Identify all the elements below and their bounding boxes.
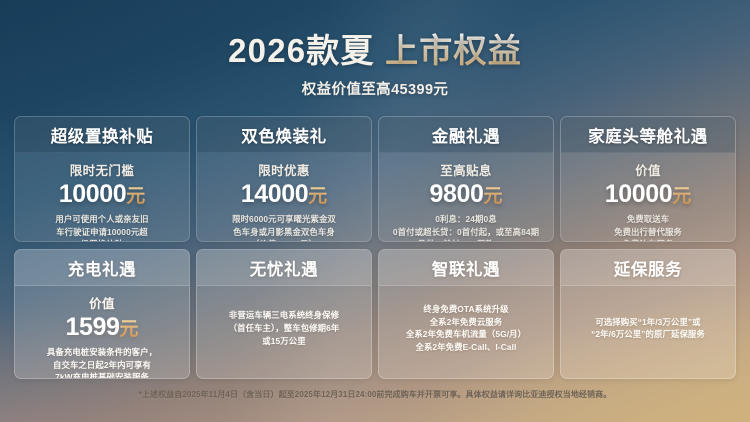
benefit-card-description: 非营运车辆三电系统终身保修（首任车主），整车包修期6年或15万公里 [229, 309, 340, 347]
benefit-card-description-line: 可选择购买“1年/3万公里”或 [591, 316, 705, 329]
benefit-card-description-line: 或15万公里 [229, 335, 340, 348]
benefit-card-amount-value: 10000 [605, 180, 673, 208]
benefit-card-description-line: （价值20000元） [232, 238, 336, 242]
benefit-card-title: 智联礼遇 [383, 256, 549, 280]
benefit-card-amount: 1599元 [65, 313, 138, 343]
benefit-card-title: 充电礼遇 [19, 256, 185, 280]
benefit-card-description-line: （首任车主），整车包修期6年 [229, 322, 340, 335]
benefit-card-description-line: 非营运车辆三电系统终身保修 [229, 309, 340, 322]
benefit-card-title: 延保服务 [565, 256, 731, 280]
benefit-card[interactable]: 双色焕装礼限时优惠14000元限时6000元可享曜光紫金双色车身或月影黑金双色车… [196, 116, 372, 242]
benefit-card-description-line: 0利息：24期0息 [393, 213, 539, 226]
benefit-card-amount-value: 14000 [241, 180, 309, 208]
benefit-card-amount-value: 1599 [65, 313, 119, 341]
benefit-card-description: 0利息：24期0息0首付或超长贷：0首付起，或至高84期0月供：首付50%尾款5… [393, 213, 539, 243]
benefit-card-description: 终身免费OTA系统升级全系2年免费云服务全系2年免费车机流量（5G/月）全系2年… [406, 303, 526, 354]
benefit-card-title: 金融礼遇 [383, 123, 549, 147]
promo-page: 2026款夏 上市权益 权益价值至高45399元 超级置换补贴限时无门槛1000… [0, 0, 750, 422]
benefit-card-header: 充电礼遇 [15, 250, 189, 286]
benefit-card-description: 限时6000元可享曜光紫金双色车身或月影黑金双色车身（价值20000元） [232, 213, 336, 243]
benefit-card-amount-unit: 元 [126, 186, 145, 207]
benefit-card-header: 双色焕装礼 [197, 117, 371, 153]
benefit-card[interactable]: 无忧礼遇非营运车辆三电系统终身保修（首任车主），整车包修期6年或15万公里 [196, 249, 372, 379]
benefit-card-description-line: 用户可使用个人或亲友旧 [55, 213, 148, 226]
benefit-card-description-line: 限时6000元可享曜光紫金双 [232, 213, 336, 226]
benefit-card-title: 家庭头等舱礼遇 [565, 123, 731, 147]
benefit-card-amount-unit: 元 [672, 186, 691, 207]
benefit-card-header: 智联礼遇 [379, 250, 553, 286]
benefit-card-description-line: 0月供：首付50%尾款50%， [393, 238, 539, 242]
benefit-card-title: 无忧礼遇 [201, 256, 367, 280]
benefit-card-description-line: “2年/6万公里”的原厂延保服务 [591, 328, 705, 341]
benefit-card-amount-value: 10000 [59, 180, 127, 208]
benefit-card-amount: 9800元 [429, 180, 502, 210]
benefit-card[interactable]: 延保服务可选择购买“1年/3万公里”或“2年/6万公里”的原厂延保服务 [560, 249, 736, 379]
benefit-card-description-line: 车行驶证申请10000元超 [55, 226, 148, 239]
page-header: 2026款夏 上市权益 权益价值至高45399元 [0, 0, 750, 99]
page-subtitle: 权益价值至高45399元 [0, 78, 750, 99]
benefit-card-description-line: 免费泊车服务 [614, 238, 682, 242]
benefit-card-description: 具备充电桩安装条件的客户，自交车之日起2年内可享有7kW充电桩基础安装服务（全系… [47, 346, 157, 380]
benefit-card-description-line: 7kW充电桩基础安装服务 [47, 371, 157, 379]
benefit-card[interactable]: 充电礼遇价值1599元具备充电桩安装条件的客户，自交车之日起2年内可享有7kW充… [14, 249, 190, 379]
benefit-card-body: 可选择购买“1年/3万公里”或“2年/6万公里”的原厂延保服务 [561, 286, 735, 378]
benefit-card-amount: 10000元 [605, 180, 692, 210]
benefit-card-header: 无忧礼遇 [197, 250, 371, 286]
benefit-card-title: 超级置换补贴 [19, 123, 185, 147]
benefit-card[interactable]: 超级置换补贴限时无门槛10000元用户可使用个人或亲友旧车行驶证申请10000元… [14, 116, 190, 242]
benefit-card-body: 限时优惠14000元限时6000元可享曜光紫金双色车身或月影黑金双色车身（价值2… [197, 153, 371, 242]
benefit-card-amount-unit: 元 [308, 186, 327, 207]
benefit-card-label: 限时优惠 [258, 160, 310, 179]
benefit-card-amount: 14000元 [241, 180, 328, 210]
page-title: 2026款夏 上市权益 [0, 33, 750, 69]
benefit-card-label: 限时无门槛 [70, 160, 135, 179]
benefit-card[interactable]: 金融礼遇至高贴息9800元0利息：24期0息0首付或超长贷：0首付起，或至高84… [378, 116, 554, 242]
benefit-card-amount-value: 9800 [429, 180, 483, 208]
benefit-card-description-line: 免费出行替代服务 [614, 226, 682, 239]
benefit-card-header: 延保服务 [561, 250, 735, 286]
benefit-card-amount-unit: 元 [120, 319, 139, 340]
page-title-highlight: 上市权益 [385, 32, 522, 69]
benefit-card-label: 价值 [635, 160, 661, 179]
benefit-card-description-line: 色车身或月影黑金双色车身 [232, 226, 336, 239]
benefit-card-description-line: 具备充电桩安装条件的客户， [47, 346, 157, 359]
benefit-card-description-line: 全系2年免费车机流量（5G/月） [406, 328, 526, 341]
page-title-model: 2026款夏 [228, 32, 375, 69]
benefit-card-description-line: 0首付或超长贷：0首付起，或至高84期 [393, 226, 539, 239]
benefit-card-title: 双色焕装礼 [201, 123, 367, 147]
benefit-card-grid: 超级置换补贴限时无门槛10000元用户可使用个人或亲友旧车行驶证申请10000元… [14, 116, 736, 379]
benefit-card-body: 限时无门槛10000元用户可使用个人或亲友旧车行驶证申请10000元超级置换补贴 [15, 153, 189, 242]
benefit-card-description: 免费取送车免费出行替代服务免费泊车服务无忧道路救援服务 [614, 213, 682, 243]
benefit-card-header: 家庭头等舱礼遇 [561, 117, 735, 153]
benefit-card-body: 非营运车辆三电系统终身保修（首任车主），整车包修期6年或15万公里 [197, 286, 371, 378]
benefit-card-label: 价值 [89, 293, 115, 312]
benefit-card-label: 至高贴息 [440, 160, 492, 179]
benefit-card-description-line: 免费取送车 [614, 213, 682, 226]
benefit-card-description: 用户可使用个人或亲友旧车行驶证申请10000元超级置换补贴 [55, 213, 148, 243]
benefit-card-description: 可选择购买“1年/3万公里”或“2年/6万公里”的原厂延保服务 [591, 316, 705, 342]
benefit-card-description-line: 级置换补贴 [55, 238, 148, 242]
benefit-card-description-line: 自交车之日起2年内可享有 [47, 359, 157, 372]
benefit-card-amount-unit: 元 [484, 186, 503, 207]
benefit-card-body: 终身免费OTA系统升级全系2年免费云服务全系2年免费车机流量（5G/月）全系2年… [379, 286, 553, 378]
benefit-card-description-line: 全系2年免费云服务 [406, 316, 526, 329]
benefit-card-header: 超级置换补贴 [15, 117, 189, 153]
benefit-card-body: 至高贴息9800元0利息：24期0息0首付或超长贷：0首付起，或至高84期0月供… [379, 153, 553, 242]
benefit-card-description-line: 终身免费OTA系统升级 [406, 303, 526, 316]
benefit-card-body: 价值10000元免费取送车免费出行替代服务免费泊车服务无忧道路救援服务 [561, 153, 735, 242]
footer-disclaimer: *上述权益自2025年11月4日（含当日）起至2025年12月31日24:00前… [0, 389, 750, 400]
benefit-card-description-line: 全系2年免费E-Call、I-Call [406, 341, 526, 354]
benefit-card[interactable]: 智联礼遇终身免费OTA系统升级全系2年免费云服务全系2年免费车机流量（5G/月）… [378, 249, 554, 379]
benefit-card-body: 价值1599元具备充电桩安装条件的客户，自交车之日起2年内可享有7kW充电桩基础… [15, 286, 189, 379]
benefit-card-amount: 10000元 [59, 180, 146, 210]
benefit-card[interactable]: 家庭头等舱礼遇价值10000元免费取送车免费出行替代服务免费泊车服务无忧道路救援… [560, 116, 736, 242]
benefit-card-header: 金融礼遇 [379, 117, 553, 153]
